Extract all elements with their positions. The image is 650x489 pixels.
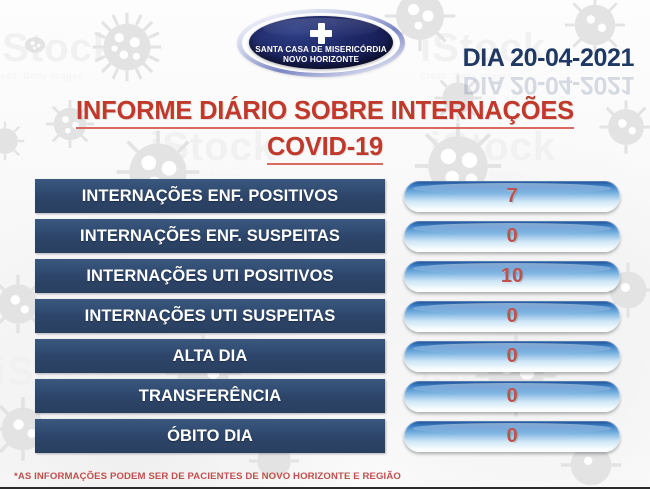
logo-line-1: SANTA CASA DE MISERICÓRDIA xyxy=(249,45,393,54)
metric-label: TRANSFERÊNCIA xyxy=(35,379,385,413)
metric-label: INTERNAÇÕES ENF. SUSPEITAS xyxy=(35,219,385,253)
metric-value-container: 0 xyxy=(385,421,620,452)
metric-value-pill: 0 xyxy=(404,381,620,412)
metric-value: 10 xyxy=(501,265,523,288)
metric-value-container: 10 xyxy=(385,261,620,292)
metric-value-pill: 10 xyxy=(404,261,620,292)
metric-value: 0 xyxy=(506,225,517,248)
logo-ellipse: SANTA CASA DE MISERICÓRDIA NOVO HORIZONT… xyxy=(249,16,393,69)
metrics-list: INTERNAÇÕES ENF. POSITIVOS 7 INTERNAÇÕES… xyxy=(0,179,650,453)
metric-value-container: 0 xyxy=(385,381,620,412)
metric-value-container: 0 xyxy=(385,221,620,252)
report-date-reflection: DIA 20-04-2021 xyxy=(463,70,634,99)
metric-value: 0 xyxy=(506,425,517,448)
metric-value: 0 xyxy=(506,385,517,408)
metric-row: ALTA DIA 0 xyxy=(35,339,620,373)
metric-row: INTERNAÇÕES UTI POSITIVOS 10 xyxy=(35,259,620,293)
metric-value-pill: 0 xyxy=(404,301,620,332)
metric-label: ÓBITO DIA xyxy=(35,419,385,453)
metric-row: INTERNAÇÕES ENF. POSITIVOS 7 xyxy=(35,179,620,213)
metric-value: 0 xyxy=(506,345,517,368)
metric-value-pill: 7 xyxy=(404,181,620,212)
hospital-logo: SANTA CASA DE MISERICÓRDIA NOVO HORIZONT… xyxy=(237,9,405,77)
metric-row: ÓBITO DIA 0 xyxy=(35,419,620,453)
metric-value-pill: 0 xyxy=(404,421,620,452)
page-title-line-2: COVID-19 xyxy=(267,132,383,165)
medical-cross-icon xyxy=(310,23,332,44)
covid-daily-report-poster: iStock Credit: Getty Images iStock Credi… xyxy=(0,0,650,489)
metric-value-pill: 0 xyxy=(404,341,620,372)
page-title: INFORME DIÁRIO SOBRE INTERNAÇÕES COVID-1… xyxy=(0,96,650,165)
metric-label: INTERNAÇÕES UTI SUSPEITAS xyxy=(35,299,385,333)
logo-line-2: NOVO HORIZONTE xyxy=(249,55,393,64)
metric-value-container: 0 xyxy=(385,341,620,372)
metric-row: TRANSFERÊNCIA 0 xyxy=(35,379,620,413)
metric-value-container: 7 xyxy=(385,181,620,212)
metric-label: ALTA DIA xyxy=(35,339,385,373)
metric-label: INTERNAÇÕES UTI POSITIVOS xyxy=(35,259,385,293)
metric-value-container: 0 xyxy=(385,301,620,332)
metric-value-pill: 0 xyxy=(404,221,620,252)
metric-row: INTERNAÇÕES UTI SUSPEITAS 0 xyxy=(35,299,620,333)
footer-disclaimer: *AS INFORMAÇÕES PODEM SER DE PACIENTES D… xyxy=(14,471,401,482)
metric-value: 0 xyxy=(506,305,517,328)
report-date: DIA 20-04-2021 xyxy=(463,44,634,73)
metric-value: 7 xyxy=(506,185,517,208)
poster-header: SANTA CASA DE MISERICÓRDIA NOVO HORIZONT… xyxy=(0,0,650,92)
metric-row: INTERNAÇÕES ENF. SUSPEITAS 0 xyxy=(35,219,620,253)
page-title-line-1: INFORME DIÁRIO SOBRE INTERNAÇÕES xyxy=(76,96,574,129)
metric-label: INTERNAÇÕES ENF. POSITIVOS xyxy=(35,179,385,213)
